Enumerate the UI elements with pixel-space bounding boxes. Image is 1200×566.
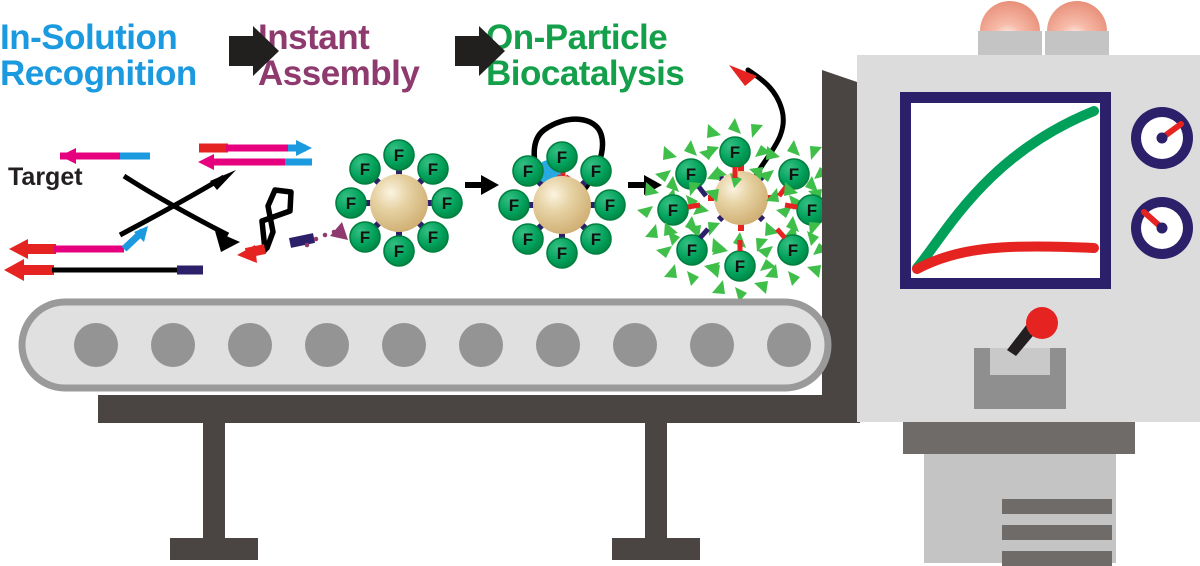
arrow-stage1-to-stage2 <box>229 26 279 76</box>
nanoparticle-stage2: F F F F F F F F <box>499 119 625 268</box>
svg-text:F: F <box>360 228 370 247</box>
base-plinth <box>903 422 1135 454</box>
svg-text:F: F <box>346 194 356 213</box>
svg-text:F: F <box>591 162 601 181</box>
substrate-duplex-bottom <box>4 259 203 281</box>
svg-text:F: F <box>442 194 452 213</box>
machine-base <box>903 422 1135 566</box>
crossing-reaction-arrows <box>120 176 228 235</box>
indicator-light-right <box>1045 1 1109 61</box>
svg-text:F: F <box>788 241 798 260</box>
svg-text:F: F <box>591 230 601 249</box>
conveyor-legs <box>170 421 700 560</box>
svg-text:F: F <box>807 201 817 220</box>
svg-text:F: F <box>523 162 533 181</box>
svg-text:F: F <box>428 228 438 247</box>
svg-text:F: F <box>789 165 799 184</box>
control-machine <box>857 1 1200 566</box>
monitor-screen[interactable] <box>900 92 1111 289</box>
svg-text:F: F <box>394 146 404 165</box>
svg-text:F: F <box>428 160 438 179</box>
released-enzyme-strand <box>237 190 314 263</box>
gauge-lower[interactable] <box>1131 197 1193 259</box>
svg-text:F: F <box>557 244 567 263</box>
reaction-arrowhead-upper <box>210 170 236 190</box>
svg-text:F: F <box>668 201 678 220</box>
lever-knob[interactable] <box>1026 307 1058 339</box>
svg-text:F: F <box>394 242 404 261</box>
svg-text:F: F <box>360 160 370 179</box>
svg-text:F: F <box>509 196 519 215</box>
figure-canvas: In-Solution Recognition Instant Assembly… <box>0 0 1200 566</box>
svg-text:F: F <box>687 241 697 260</box>
nanoparticle-stage3: F F F F <box>637 65 848 302</box>
gauge-upper[interactable] <box>1131 107 1193 169</box>
indicator-light-left <box>978 1 1042 61</box>
svg-text:F: F <box>730 143 740 162</box>
np3-catalytic-arrowhead <box>729 65 757 86</box>
free-target-strand <box>60 148 150 164</box>
svg-text:F: F <box>557 148 567 167</box>
svg-text:F: F <box>735 257 745 276</box>
glowing-fluorophore: F <box>757 216 829 286</box>
svg-text:F: F <box>686 165 696 184</box>
process-arrow-1 <box>465 175 499 195</box>
lever-slot <box>990 348 1050 375</box>
duplex-waste-bottom <box>198 154 312 170</box>
base-vents <box>1002 499 1112 566</box>
arrow-stage2-to-stage3 <box>455 26 505 76</box>
svg-text:F: F <box>605 196 615 215</box>
glowing-fluorophore: F <box>656 216 728 286</box>
duplex-waste-top <box>199 140 312 156</box>
svg-text:F: F <box>523 230 533 249</box>
nanoparticle-stage1: F F F F F F F F <box>336 140 462 266</box>
conveyor-frame <box>98 395 860 423</box>
figure-svg: F F F F F F F F <box>0 0 1200 566</box>
glowing-fluorophore: F <box>704 232 776 302</box>
